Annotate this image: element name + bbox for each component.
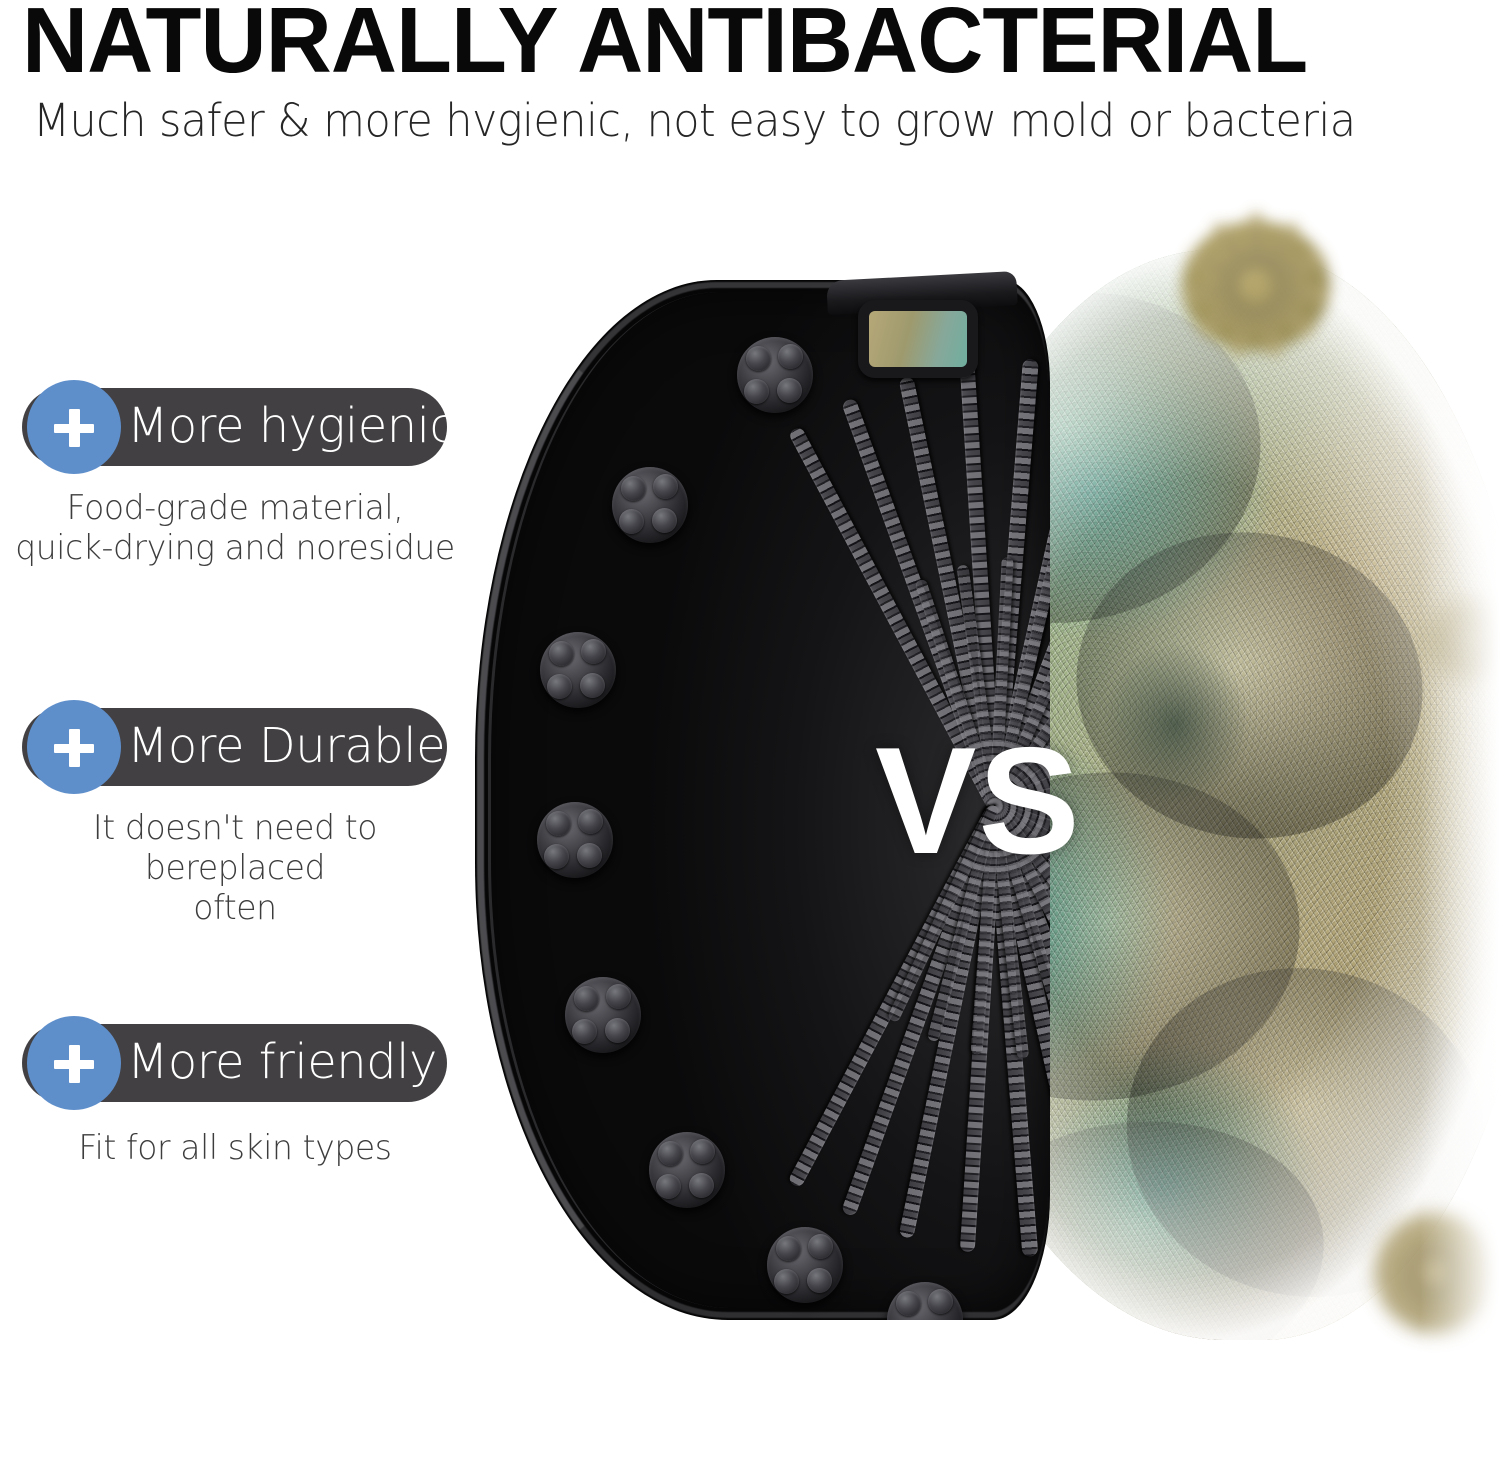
scrubber-nub-dot <box>690 1139 715 1164</box>
scrubber-suction-nub <box>537 802 613 878</box>
scrubber-suction-nub <box>540 632 616 708</box>
scrubber-nub-dot <box>621 476 646 501</box>
scrubber-nub-dot <box>689 1173 714 1198</box>
scrubber-nub-dot <box>807 1268 832 1293</box>
scrubber-nub-dot <box>746 346 771 371</box>
scrubber-nub-dot <box>574 986 599 1011</box>
scrubber-suction-nub <box>649 1132 725 1208</box>
scrubber-nub-dot <box>578 809 603 834</box>
feature-pill-more-durable[interactable]: More Durable <box>22 708 447 786</box>
feature-label: More friendly <box>127 1034 437 1090</box>
scrubber-nub-dot <box>776 1236 801 1261</box>
feature-pill-more-hygienic[interactable]: More hygienic <box>22 388 447 466</box>
feature-caption: It doesn't need to bereplaced often <box>7 808 463 928</box>
right-edge-fade <box>1420 0 1500 1459</box>
scrubber-nub-dot <box>928 1289 953 1314</box>
scrubber-suction-nub <box>767 1227 843 1303</box>
scrubber-nub-dot <box>619 509 644 534</box>
feature-pill-more-friendly[interactable]: More friendly <box>22 1024 447 1102</box>
scrubber-nub-dot <box>744 379 769 404</box>
feature-label: More Durable <box>127 718 445 774</box>
vs-label: VS <box>875 725 1082 877</box>
feature-caption: Fit for all skin types <box>7 1128 463 1168</box>
scrubber-nub-dot <box>572 1019 597 1044</box>
feature-caption-line-2: quick-drying and noresidue <box>15 528 455 568</box>
scrubber-nub-dot <box>605 1018 630 1043</box>
scrubber-nub-dot <box>546 811 571 836</box>
scrubber-nub-dot <box>606 984 631 1009</box>
bacteria-icon <box>1126 176 1386 396</box>
feature-caption-line-2: often <box>193 888 276 928</box>
feature-label: More hygienic <box>127 398 455 454</box>
hanging-hole <box>858 300 978 378</box>
scrubber-suction-nub <box>737 337 813 413</box>
scrubber-nub-dot <box>581 639 606 664</box>
scrubber-nub-dot <box>549 641 574 666</box>
feature-caption-line-1: Food-grade material, <box>67 488 404 528</box>
feature-caption-line-1: It doesn't need to bereplaced <box>93 808 377 888</box>
scrubber-nub-dot <box>544 844 569 869</box>
feature-caption: Food-grade material, quick-drying and no… <box>7 488 463 568</box>
scrubber-nub-dot <box>896 1291 921 1316</box>
scrubber-nub-dot <box>774 1269 799 1294</box>
feature-list: More hygienic Food-grade material, quick… <box>0 0 470 1459</box>
scrubber-suction-nub <box>612 467 688 543</box>
bottom-edge-fade <box>0 1389 1500 1459</box>
plus-icon <box>27 1016 121 1110</box>
scrubber-nub-dot <box>658 1141 683 1166</box>
plus-icon <box>27 380 121 474</box>
scrubber-nub-dot <box>547 674 572 699</box>
scrubber-nub-dot <box>580 673 605 698</box>
plus-icon <box>27 700 121 794</box>
scrubber-nub-dot <box>653 474 678 499</box>
scrubber-nub-dot <box>777 378 802 403</box>
scrubber-suction-nub <box>565 977 641 1053</box>
scrubber-nub-dot <box>652 508 677 533</box>
scrubber-nub-dot <box>808 1234 833 1259</box>
hanging-hole-seethrough <box>869 311 967 367</box>
scrubber-nub-dot <box>577 843 602 868</box>
scrubber-nub-dot <box>778 344 803 369</box>
scrubber-nub-dot <box>656 1174 681 1199</box>
